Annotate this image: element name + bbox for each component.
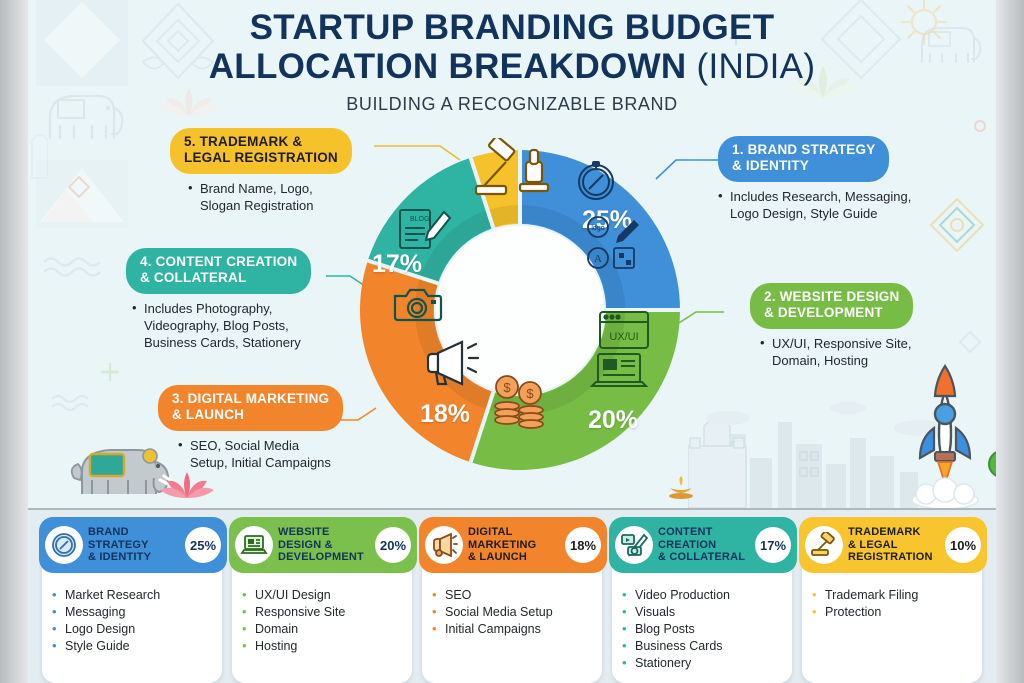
callout-digital-marketing-pill[interactable]: 3. DIGITAL MARKETING & LAUNCH — [158, 385, 343, 431]
desc-line: Includes Photography, Videography, Blog … — [132, 301, 366, 352]
card-digital-marketing[interactable]: DIGITAL MARKETING & LAUNCH 18% SEO Socia… — [422, 523, 602, 683]
card-percent-badge: 17% — [755, 527, 791, 563]
card-percent-badge: 20% — [375, 527, 411, 563]
card-percent-badge: 10% — [945, 527, 981, 563]
card-header: DIGITAL MARKETING & LAUNCH 18% — [419, 517, 607, 573]
summary-cards: BRAND STRATEGY & IDENTITY 25% Market Res… — [42, 523, 982, 683]
title-line-2-bold: ALLOCATION BREAKDOWN — [209, 47, 687, 86]
desc-text-1: Includes Research, Messaging, — [730, 189, 911, 204]
svg-text:$: $ — [526, 386, 534, 401]
card-body: UX/UI Design Responsive Site Domain Host… — [232, 579, 414, 655]
card-title-line3: REGISTRATION — [848, 551, 945, 564]
list-item: Social Media Setup — [432, 604, 598, 621]
list-item: Initial Campaigns — [432, 621, 598, 638]
list-item: Visuals — [622, 604, 788, 621]
callout-brand-strategy-desc: Includes Research, Messaging, Logo Desig… — [718, 189, 954, 223]
card-title-line1: DIGITAL — [468, 526, 565, 539]
browser-uxui-icon: UX/UI — [598, 310, 650, 355]
lotus-illustration — [158, 466, 216, 507]
desc-text-2: Setup, Initial Campaigns — [190, 455, 331, 470]
desc-line: Brand Name, Logo, Slogan Registration — [188, 181, 396, 215]
list-item: UX/UI Design — [242, 587, 408, 604]
list-item: Trademark Filing — [812, 587, 978, 604]
card-title-line3: & IDENTITY — [88, 551, 185, 564]
card-header: BRAND STRATEGY & IDENTITY 25% — [39, 517, 227, 573]
coins-icon: $ $ — [490, 374, 546, 435]
camera-icon — [392, 284, 444, 329]
tree-illustration — [984, 432, 996, 511]
card-website-design[interactable]: WEBSITE DESIGN & DEVELOPMENT 20% UX/UI D… — [232, 523, 412, 683]
desc-text-1: SEO, Social Media — [190, 438, 299, 453]
card-title: CONTENT CREATION & COLLATERAL — [653, 526, 755, 565]
list-item: Stationery — [622, 655, 788, 672]
list-item: Business Cards — [622, 638, 788, 655]
card-title-line3: & LAUNCH — [468, 551, 565, 564]
callout-title-line1: 3. DIGITAL MARKETING — [172, 391, 329, 407]
desc-line: SEO, Social Media Setup, Initial Campaig… — [178, 438, 380, 472]
desc-line: Includes Research, Messaging, Logo Desig… — [718, 189, 954, 223]
card-body: SEO Social Media Setup Initial Campaigns — [422, 579, 604, 638]
desc-text-1: UX/UI, Responsive Site, — [772, 336, 911, 351]
card-title-line2: STRATEGY — [88, 539, 185, 552]
pen-camera-icon — [615, 526, 653, 564]
list-item: Hosting — [242, 638, 408, 655]
svg-text:UX/UI: UX/UI — [609, 331, 638, 343]
card-title: WEBSITE DESIGN & DEVELOPMENT — [273, 526, 375, 565]
callout-website-design-pill[interactable]: 2. WEBSITE DESIGN & DEVELOPMENT — [750, 283, 913, 329]
list-item: Logo Design — [52, 621, 218, 638]
card-title-line1: BRAND — [88, 526, 185, 539]
laptop-icon — [590, 350, 648, 401]
card-trademark-legal[interactable]: TRADEMARK & LEGAL REGISTRATION 10% Trade… — [802, 523, 982, 683]
wave-motif — [42, 254, 102, 280]
compass-icon — [45, 526, 83, 564]
callout-digital-marketing-desc: SEO, Social Media Setup, Initial Campaig… — [158, 438, 380, 472]
callout-trademark-legal-pill[interactable]: 5. TRADEMARK & LEGAL REGISTRATION — [170, 128, 352, 174]
list-item: Protection — [812, 604, 978, 621]
svg-text:$: $ — [503, 380, 511, 395]
callout-digital-marketing: 3. DIGITAL MARKETING & LAUNCH SEO, Socia… — [158, 385, 380, 472]
callout-title-line1: 4. CONTENT CREATION — [140, 254, 297, 270]
blog-post-icon: BLOG — [396, 204, 452, 261]
gavel-stamp-icon — [472, 138, 556, 205]
list-item: Blog Posts — [622, 621, 788, 638]
list-item: Domain — [242, 621, 408, 638]
desc-text-2: Logo Design, Style Guide — [730, 206, 877, 221]
callout-trademark-legal: 5. TRADEMARK & LEGAL REGISTRATION Brand … — [170, 128, 396, 215]
card-title: DIGITAL MARKETING & LAUNCH — [463, 526, 565, 565]
card-title-line1: TRADEMARK — [848, 526, 945, 539]
callout-content-creation-desc: Includes Photography, Videography, Blog … — [126, 301, 366, 352]
callout-trademark-legal-desc: Brand Name, Logo, Slogan Registration — [170, 181, 396, 215]
page-edge-left — [0, 0, 28, 683]
rocket-illustration — [900, 352, 990, 513]
svg-text:A: A — [594, 253, 602, 265]
megaphone-icon — [422, 336, 482, 391]
arch-motif — [28, 120, 48, 180]
page-title: STARTUP BRANDING BUDGET ALLOCATION BREAK… — [28, 8, 996, 86]
megaphone-icon — [425, 526, 463, 564]
laptop-icon — [235, 526, 273, 564]
desc-text-1: Brand Name, Logo, — [200, 181, 313, 196]
poster-header: STARTUP BRANDING BUDGET ALLOCATION BREAK… — [28, 8, 996, 115]
callout-content-creation: 4. CONTENT CREATION & COLLATERAL Include… — [126, 248, 366, 352]
svg-text:logo: logo — [591, 225, 604, 232]
callout-website-design: 2. WEBSITE DESIGN & DEVELOPMENT UX/UI, R… — [750, 283, 970, 370]
callout-title-line2: & DEVELOPMENT — [764, 305, 899, 321]
callout-title-line1: 2. WEBSITE DESIGN — [764, 289, 899, 305]
desc-text-1: Includes Photography, — [144, 301, 272, 316]
list-item: SEO — [432, 587, 598, 604]
title-line-2: ALLOCATION BREAKDOWN (INDIA) — [28, 47, 996, 86]
logo-design-icons: logo A — [586, 216, 644, 275]
card-title-line2: & LEGAL — [848, 539, 945, 552]
wave-motif-2 — [50, 392, 102, 412]
desc-text-2: Domain, Hosting — [772, 353, 868, 368]
list-item: Market Research — [52, 587, 218, 604]
card-brand-strategy[interactable]: BRAND STRATEGY & IDENTITY 25% Market Res… — [42, 523, 222, 683]
card-title-line3: & COLLATERAL — [658, 551, 755, 564]
card-header: WEBSITE DESIGN & DEVELOPMENT 20% — [229, 517, 417, 573]
dot-motif-right — [972, 118, 988, 134]
desc-text-3: Business Cards, Stationery — [144, 335, 301, 350]
callout-title-line2: & LAUNCH — [172, 407, 329, 423]
desc-line: UX/UI, Responsive Site, Domain, Hosting — [760, 336, 970, 370]
gateway-of-india-skyline — [688, 392, 988, 513]
list-item: Style Guide — [52, 638, 218, 655]
diamond-small-motif — [68, 176, 90, 198]
percent-label-website-design: 20% — [588, 406, 638, 435]
gavel-icon — [805, 526, 843, 564]
callout-brand-strategy: 1. BRAND STRATEGY & IDENTITY Includes Re… — [718, 136, 954, 223]
svg-text:BLOG: BLOG — [410, 216, 429, 223]
card-body: Video Production Visuals Blog Posts Busi… — [612, 579, 794, 672]
card-title: TRADEMARK & LEGAL REGISTRATION — [843, 526, 945, 565]
mountain-motif — [36, 160, 128, 228]
callout-title-line2: & COLLATERAL — [140, 270, 297, 286]
card-title-line1: WEBSITE — [278, 526, 375, 539]
card-title-line2: DESIGN & — [278, 539, 375, 552]
callout-brand-strategy-pill[interactable]: 1. BRAND STRATEGY & IDENTITY — [718, 136, 889, 182]
card-title-line3: DEVELOPMENT — [278, 551, 375, 564]
card-title: BRAND STRATEGY & IDENTITY — [83, 526, 185, 565]
list-item: Video Production — [622, 587, 788, 604]
plus-motif — [100, 362, 120, 382]
compass-icon — [572, 156, 620, 209]
card-percent-badge: 18% — [565, 527, 601, 563]
infographic-poster: STARTUP BRANDING BUDGET ALLOCATION BREAK… — [28, 0, 996, 683]
card-title-line2: MARKETING — [468, 539, 565, 552]
percent-label-digital-marketing: 18% — [420, 400, 470, 429]
desc-text-2: Slogan Registration — [200, 198, 313, 213]
list-item: Messaging — [52, 604, 218, 621]
callout-title-line2: LEGAL REGISTRATION — [184, 150, 338, 166]
desc-text-2: Videography, Blog Posts, — [144, 318, 289, 333]
title-line-2-light: (INDIA) — [697, 47, 816, 86]
donut-chart: 25% 20% 18% 17% logo A — [350, 128, 690, 488]
card-percent-badge: 25% — [185, 527, 221, 563]
card-title-line1: CONTENT — [658, 526, 755, 539]
card-title-line2: CREATION — [658, 539, 755, 552]
card-header: TRADEMARK & LEGAL REGISTRATION 10% — [799, 517, 987, 573]
card-body: Market Research Messaging Logo Design St… — [42, 579, 224, 655]
page-subtitle: BUILDING A RECOGNIZABLE BRAND — [28, 94, 996, 115]
callout-website-design-desc: UX/UI, Responsive Site, Domain, Hosting — [750, 336, 970, 370]
list-item: Responsive Site — [242, 604, 408, 621]
card-header: CONTENT CREATION & COLLATERAL 17% — [609, 517, 797, 573]
title-line-1: STARTUP BRANDING BUDGET — [28, 8, 996, 47]
card-body: Trademark Filing Protection — [802, 579, 984, 621]
page-edge-right — [996, 0, 1024, 683]
callout-content-creation-pill[interactable]: 4. CONTENT CREATION & COLLATERAL — [126, 248, 311, 294]
card-content-creation[interactable]: CONTENT CREATION & COLLATERAL 17% Video … — [612, 523, 792, 683]
callout-title-line1: 5. TRADEMARK & — [184, 134, 338, 150]
callout-title-line1: 1. BRAND STRATEGY — [732, 142, 875, 158]
callout-title-line2: & IDENTITY — [732, 158, 875, 174]
